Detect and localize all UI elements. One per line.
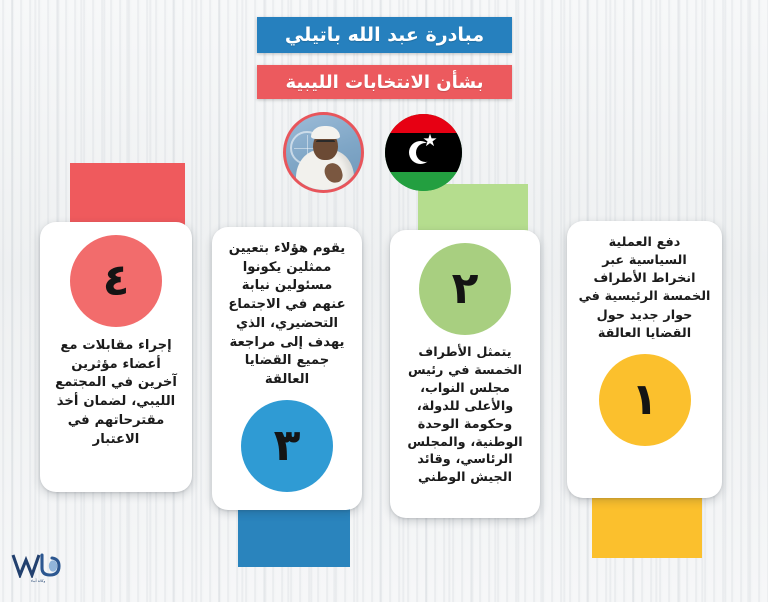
step-text-2: يتمثل الأطراف الخمسة في رئيس مجلس النواب… (400, 344, 530, 487)
step-number-4: ٤ (70, 235, 162, 327)
accent-bar-card-3 (238, 505, 350, 567)
logo-caption: وكالة أنباء (9, 579, 67, 583)
step-card-3: يقوم هؤلاء بتعيين ممثلين يكونوا مسئولين … (212, 227, 362, 510)
flag-stripe-green (385, 172, 462, 191)
step-text-4: إجراء مقابلات مع أعضاء مؤثرين آخرين في ا… (50, 337, 182, 449)
headline-title-banner: مبادرة عبد الله باتيلي (257, 17, 512, 53)
step-text-1: دفع العملية السياسية عبر انخراط الأطراف … (577, 234, 712, 343)
step-card-2: ٢ يتمثل الأطراف الخمسة في رئيس مجلس النو… (390, 230, 540, 518)
portrait-glasses-icon (316, 140, 335, 147)
step-number-1: ١ (599, 354, 691, 446)
accent-bar-card-1 (592, 496, 702, 558)
headline-subtitle-banner: بشأن الانتخابات الليبية (257, 65, 512, 99)
infographic-canvas: مبادرة عبد الله باتيلي بشأن الانتخابات ا… (0, 0, 768, 602)
portrait-cap-icon (311, 126, 340, 139)
libya-flag-icon (385, 114, 462, 191)
step-card-1: دفع العملية السياسية عبر انخراط الأطراف … (567, 221, 722, 498)
logo-monogram-icon (9, 552, 67, 578)
step-card-4: ٤ إجراء مقابلات مع أعضاء مؤثرين آخرين في… (40, 222, 192, 492)
agency-logo: وكالة أنباء (9, 552, 67, 592)
portrait-photo (283, 112, 364, 193)
step-text-3: يقوم هؤلاء بتعيين ممثلين يكونوا مسئولين … (222, 240, 352, 390)
step-number-2: ٢ (419, 243, 511, 335)
step-number-3: ٣ (241, 400, 333, 492)
